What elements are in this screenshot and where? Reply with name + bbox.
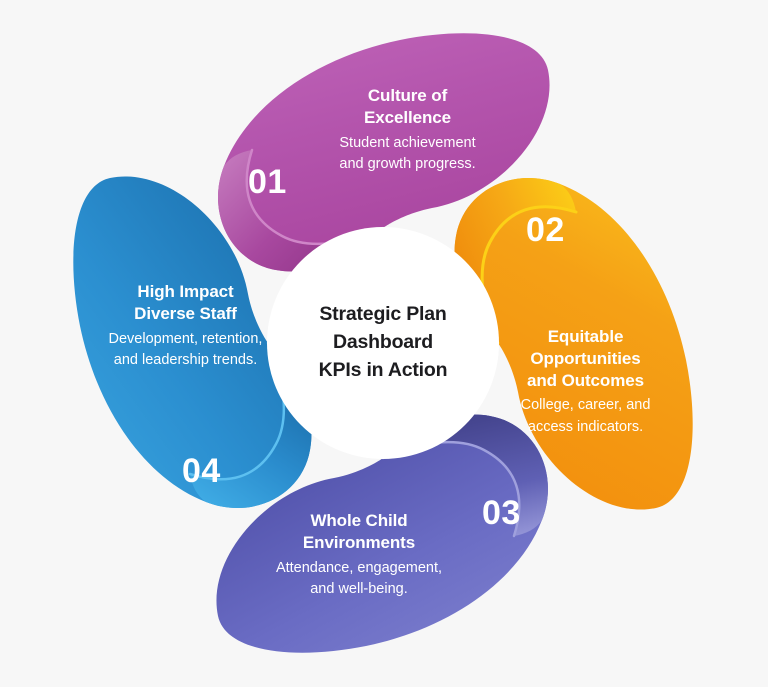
- center-title: Strategic Plan Dashboard KPIs in Action: [319, 301, 448, 384]
- center-hub: Strategic Plan Dashboard KPIs in Action: [268, 228, 498, 458]
- strategic-plan-diagram: Culture of Excellence Student achievemen…: [0, 0, 768, 687]
